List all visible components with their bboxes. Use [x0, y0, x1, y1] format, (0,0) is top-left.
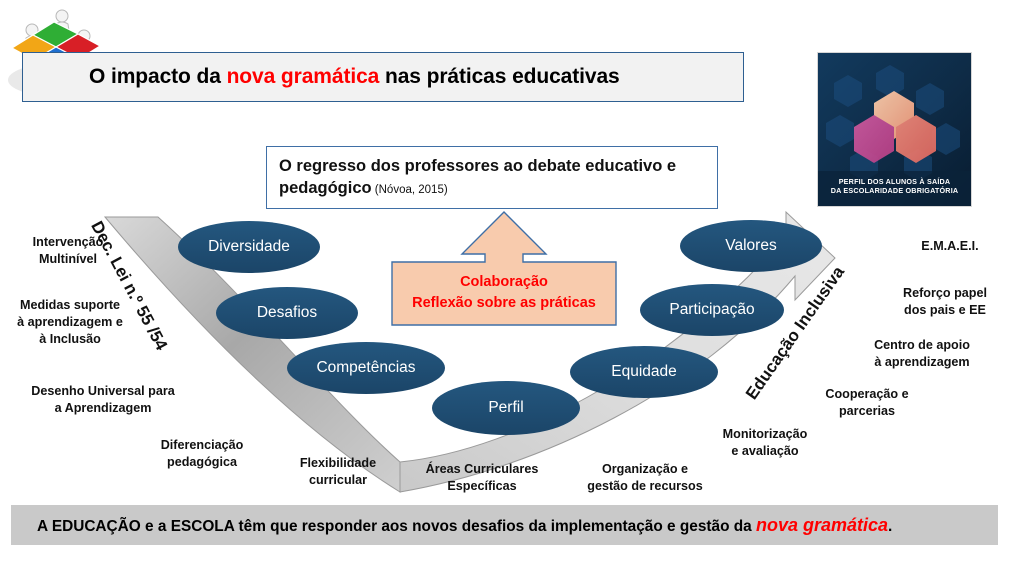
cover-caption-line1: PERFIL DOS ALUNOS À SAÍDA [818, 177, 971, 187]
collaboration-arrow-callout: Colaboração Reflexão sobre as práticas [390, 210, 618, 327]
bottom-banner-prefix: A EDUCAÇÃO e a ESCOLA têm que responder … [37, 518, 756, 535]
title-highlight: nova gramática [227, 65, 380, 88]
bubble-label-competencias: Competências [316, 359, 415, 377]
bottom-banner: A EDUCAÇÃO e a ESCOLA têm que responder … [8, 505, 1001, 545]
cover-caption: PERFIL DOS ALUNOS À SAÍDA DA ESCOLARIDAD… [818, 177, 971, 196]
keyword-desenho-universal: Desenho Universal para a Aprendizagem [8, 383, 198, 417]
quote-line-2: pedagógico (Nóvoa, 2015) [279, 177, 705, 199]
bottom-banner-text: A EDUCAÇÃO e a ESCOLA têm que responder … [37, 515, 892, 536]
bubble-label-equidade: Equidade [611, 363, 677, 381]
bubble-label-desafios: Desafios [257, 304, 317, 322]
quote-line-2-text: pedagógico [279, 179, 372, 197]
quote-line-1: O regresso dos professores ao debate edu… [279, 155, 705, 177]
page-title: O impacto da nova gramática nas práticas… [89, 65, 620, 89]
slide-canvas: O impacto da nova gramática nas práticas… [0, 0, 1009, 562]
keyword-flexibilidade-curricular: Flexibilidade curricular [276, 455, 400, 489]
keyword-medidas-suporte: Medidas suporte à aprendizagem e à Inclu… [2, 297, 138, 348]
collaboration-arrow-shape [392, 212, 616, 325]
bottom-banner-highlight: nova gramática [756, 515, 888, 535]
bubble-valores [680, 220, 822, 272]
bubble-diversidade [178, 221, 320, 273]
bubble-label-valores: Valores [725, 237, 776, 255]
bubble-perfil [432, 381, 580, 435]
keyword-monitorizacao-avaliacao: Monitorização e avaliação [700, 426, 830, 460]
keyword-diferenciacao-pedagogica: Diferenciação pedagógica [136, 437, 268, 471]
cover-caption-line2: DA ESCOLARIDADE OBRIGATÓRIA [818, 186, 971, 196]
keyword-organizacao-gestao: Organização e gestão de recursos [564, 461, 726, 495]
bottom-banner-suffix: . [888, 518, 892, 535]
title-suffix: nas práticas educativas [379, 65, 619, 88]
bubble-desafios [216, 287, 358, 339]
keyword-reforco-papel-pais: Reforço papel dos pais e EE [888, 285, 1002, 319]
bubble-label-participacao: Participação [669, 301, 754, 319]
slide-title-bar: O impacto da nova gramática nas práticas… [22, 52, 744, 102]
keyword-centro-apoio-aprendizagem: Centro de apoio à aprendizagem [858, 337, 986, 371]
arc-right-label: Educação Inclusiva [742, 263, 849, 404]
perfil-alunos-cover-image: PERFIL DOS ALUNOS À SAÍDA DA ESCOLARIDAD… [817, 52, 972, 207]
bubble-label-perfil: Perfil [488, 399, 523, 417]
bubble-equidade [570, 346, 718, 398]
bubble-label-diversidade: Diversidade [208, 238, 290, 256]
title-prefix: O impacto da [89, 65, 227, 88]
quote-source: (Nóvoa, 2015) [372, 184, 448, 196]
keyword-intervencao-multinivel: Intervenção Multinível [8, 234, 128, 268]
quote-callout-box: O regresso dos professores ao debate edu… [266, 146, 718, 209]
keyword-cooperacao-parcerias: Cooperação e parcerias [806, 386, 928, 420]
bubble-competencias [287, 342, 445, 394]
keyword-emaei: E.M.A.E.I. [900, 238, 1000, 255]
keyword-areas-curriculares: Áreas Curriculares Específicas [408, 461, 556, 495]
bubble-participacao [640, 284, 784, 336]
